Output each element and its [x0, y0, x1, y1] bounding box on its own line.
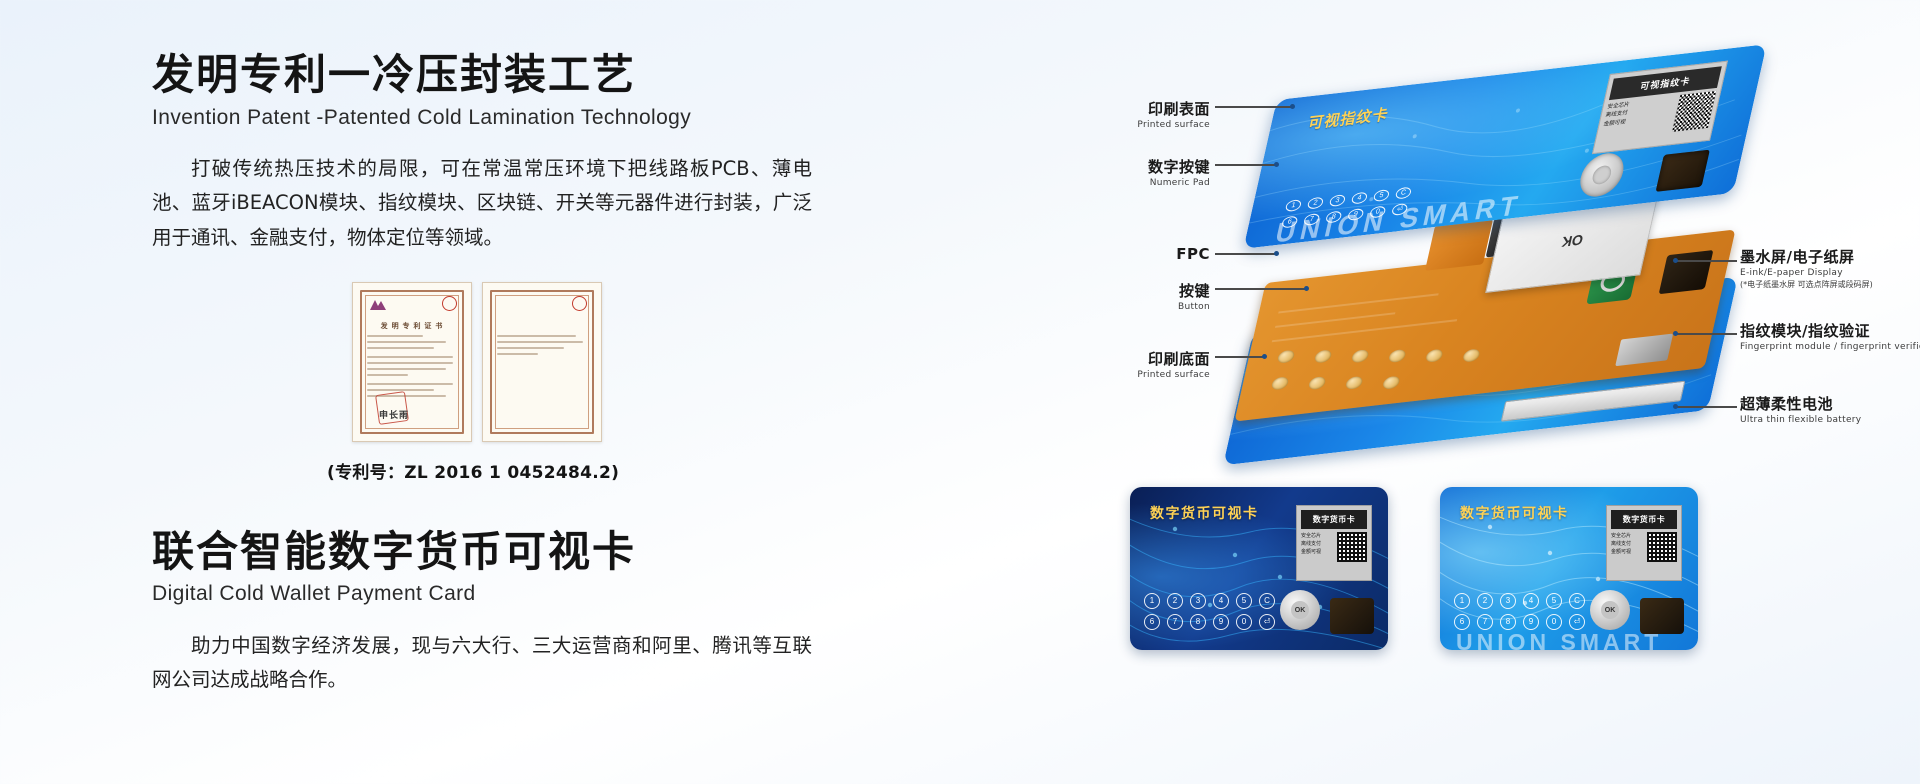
- keypad-key[interactable]: 5: [1546, 593, 1562, 609]
- keypad-row: 1 2 3 4 5 C: [1454, 593, 1585, 609]
- pcb-pad: [1308, 376, 1327, 390]
- callout-numeric-pad: 数字按键 Numeric Pad: [1040, 156, 1210, 188]
- pcb-pad: [1382, 376, 1401, 390]
- product-card-light: 数字货币可视卡 数字货币卡 安全芯片 离线支付 金额可视 1 2 3: [1440, 487, 1698, 650]
- callout-label-en: Button: [1030, 302, 1210, 312]
- pcb-pad: [1462, 348, 1481, 362]
- section2-heading-cn: 联合智能数字货币可视卡: [152, 527, 852, 577]
- callout-flexible-battery: 超薄柔性电池 Ultra thin flexible battery: [1740, 393, 1861, 425]
- keypad-key[interactable]: 3: [1500, 593, 1516, 609]
- section1-heading-en: Invention Patent -Patented Cold Laminati…: [152, 105, 852, 130]
- cert-line: [367, 341, 446, 343]
- section2-paragraph: 助力中国数字经济发展，现与六大行、三大运营商和阿里、腾讯等互联网公司达成战略合作…: [152, 629, 812, 698]
- callout-printed-surface-top: 印刷表面 Printed surface: [1040, 98, 1210, 130]
- pcb-trace: [1278, 293, 1438, 313]
- cert-line: [367, 389, 434, 391]
- keypad-row: 6 7 8 9 0 ⏎: [1144, 614, 1275, 630]
- screen-body: 安全芯片 离线支付 金额可视: [1611, 532, 1677, 576]
- leader-line-fpc: [1215, 253, 1277, 255]
- qr-code-icon: [1647, 532, 1677, 562]
- screen-main-text: 数字货币卡: [1611, 510, 1677, 529]
- keypad-key[interactable]: 1: [1454, 593, 1470, 609]
- product-card-dark: 数字货币可视卡 数字货币卡 安全芯片 离线支付 金额可视 1 2 3: [1130, 487, 1388, 650]
- keypad-key[interactable]: C: [1395, 187, 1413, 200]
- section1-paragraph: 打破传统热压技术的局限，可在常温常压环境下把线路板PCB、薄电池、蓝牙iBEAC…: [152, 152, 812, 256]
- certificate-seal-icon: [442, 296, 457, 311]
- callout-button: 按键 Button: [1030, 280, 1210, 312]
- product-card-keypad: 1 2 3 4 5 C 6 7 8 9 0 ⏎: [1454, 593, 1585, 630]
- leader-line-battery: [1675, 406, 1737, 408]
- silver-module: [1615, 334, 1673, 367]
- keypad-row: 6 7 8 9 0 ⏎: [1454, 614, 1585, 630]
- callout-printed-surface-bottom: 印刷底面 Printed surface: [1020, 348, 1210, 380]
- product-card-screen: 数字货币卡 安全芯片 离线支付 金额可视: [1606, 505, 1682, 581]
- certificate-title: 发 明 专 利 证 书: [353, 321, 471, 331]
- cert-line: [497, 341, 583, 343]
- section1-heading-cn: 发明专利一冷压封装工艺: [152, 50, 852, 100]
- certificate-image-1: 发 明 专 利 证 书: [352, 282, 472, 442]
- section-invention-patent: 发明专利一冷压封装工艺 Invention Patent -Patented C…: [152, 50, 852, 483]
- keypad-key[interactable]: 3: [1329, 194, 1347, 207]
- product-card-keypad: 1 2 3 4 5 C 6 7 8 9 0 ⏎: [1144, 593, 1275, 630]
- keypad-key[interactable]: 4: [1523, 593, 1539, 609]
- pcb-pad: [1425, 349, 1444, 363]
- pcb-trace: [1275, 312, 1395, 327]
- keypad-key[interactable]: 2: [1167, 593, 1183, 609]
- leader-line-printed-surface-bottom: [1215, 356, 1265, 358]
- product-card-brand-latin: UNION SMART: [1456, 629, 1662, 650]
- pcb-pad: [1351, 349, 1370, 363]
- patent-office-logo-icon: [367, 297, 389, 313]
- keypad-key[interactable]: 2: [1307, 197, 1325, 210]
- screen-feature-list: 安全芯片 离线支付 金额可视: [1611, 532, 1631, 576]
- leader-line-button: [1215, 288, 1307, 290]
- callout-label-en: Fingerprint module / fingerprint verific…: [1740, 342, 1920, 352]
- keypad-row: 1 2 3 4 5 C: [1144, 593, 1275, 609]
- leader-line-fingerprint: [1675, 333, 1737, 335]
- cert-line: [367, 347, 434, 349]
- cert-line: [367, 368, 446, 370]
- leader-line-numeric-pad: [1215, 164, 1277, 166]
- cert-line: [497, 353, 538, 355]
- screen-body: 安全芯片 离线支付 金额可视: [1598, 91, 1716, 148]
- patent-number: (专利号：ZL 2016 1 0452484.2): [327, 458, 852, 483]
- keypad-key[interactable]: 2: [1477, 593, 1493, 609]
- keypad-key[interactable]: 3: [1190, 593, 1206, 609]
- qr-code-icon: [1337, 532, 1367, 562]
- callout-label-note: (*电子纸墨水屏 可选点阵屏或段码屏): [1740, 279, 1873, 290]
- keypad-key[interactable]: 5: [1373, 189, 1391, 202]
- keypad-key[interactable]: 0: [1236, 614, 1252, 630]
- callout-label-cn: FPC: [1030, 245, 1210, 263]
- keypad-key[interactable]: 6: [1144, 614, 1160, 630]
- leader-line-printed-surface-top: [1215, 106, 1293, 108]
- eink-display-text: OK: [1560, 231, 1585, 250]
- callout-label-en: Printed surface: [1040, 120, 1210, 130]
- keypad-key[interactable]: 1: [1144, 593, 1160, 609]
- product-card-screen: 数字货币卡 安全芯片 离线支付 金额可视: [1296, 505, 1372, 581]
- pcb-pad: [1277, 350, 1296, 364]
- certificate-inner-frame: [495, 295, 589, 429]
- callout-label-en: Printed surface: [1020, 370, 1210, 380]
- dpad-control[interactable]: [1280, 590, 1320, 630]
- keypad-key[interactable]: 1: [1285, 199, 1303, 212]
- card-display-screen: 可视指纹卡 安全芯片 离线支付 金额可视: [1592, 61, 1728, 154]
- qr-code-icon: [1672, 91, 1716, 132]
- keypad-key[interactable]: C: [1259, 593, 1275, 609]
- cert-line: [367, 383, 453, 385]
- card-top-layer: 可视指纹卡 可视指纹卡 安全芯片 离线支付 金额可视 1: [1243, 44, 1766, 249]
- cert-line: [367, 335, 423, 337]
- certificate-signature: 申长雨: [379, 408, 409, 421]
- screen-feature-list: 安全芯片 离线支付 金额可视: [1301, 532, 1321, 576]
- certificate-seal-icon: [572, 296, 587, 311]
- callout-label-cn: 指纹模块/指纹验证: [1740, 320, 1920, 341]
- screen-feature: 离线支付: [1611, 540, 1631, 548]
- product-card-title: 数字货币可视卡: [1150, 503, 1259, 523]
- section-digital-cold-wallet: 联合智能数字货币可视卡 Digital Cold Wallet Payment …: [152, 527, 852, 698]
- callout-eink-display: 墨水屏/电子纸屏 E-ink/E-paper Display (*电子纸墨水屏 …: [1740, 246, 1873, 290]
- left-content-column: 发明专利一冷压封装工艺 Invention Patent -Patented C…: [152, 50, 852, 698]
- screen-feature: 安全芯片: [1611, 532, 1631, 540]
- callout-label-cn: 印刷表面: [1040, 98, 1210, 119]
- pcb-pad: [1314, 349, 1333, 363]
- cert-line: [367, 374, 408, 376]
- pcb-pad: [1388, 349, 1407, 363]
- keypad-key[interactable]: 7: [1477, 614, 1493, 630]
- screen-feature: 离线支付: [1301, 540, 1321, 548]
- secure-element-chip: [1659, 250, 1714, 294]
- screen-feature: 安全芯片: [1301, 532, 1321, 540]
- keypad-key[interactable]: 4: [1351, 192, 1369, 205]
- leader-line-eink: [1675, 260, 1737, 262]
- callout-label-cn: 印刷底面: [1020, 348, 1210, 369]
- keypad-key[interactable]: 9: [1523, 614, 1539, 630]
- page-root: 发明专利一冷压封装工艺 Invention Patent -Patented C…: [0, 0, 1920, 784]
- screen-feature-list: 安全芯片 离线支付 金额可视: [1598, 101, 1630, 149]
- certificate-frame: [490, 290, 594, 434]
- callout-label-en: Ultra thin flexible battery: [1740, 415, 1861, 425]
- section2-heading-en: Digital Cold Wallet Payment Card: [152, 581, 852, 606]
- callout-label-cn: 超薄柔性电池: [1740, 393, 1861, 414]
- callout-label-cn: 数字按键: [1040, 156, 1210, 177]
- cert-line: [497, 335, 576, 337]
- keypad-key[interactable]: 4: [1213, 593, 1229, 609]
- keypad-key[interactable]: 7: [1167, 614, 1183, 630]
- cert-line: [367, 356, 453, 358]
- certificate-text-lines: [497, 335, 587, 359]
- keypad-key[interactable]: C: [1569, 593, 1585, 609]
- cert-line: [367, 362, 453, 364]
- callout-fpc: FPC: [1030, 245, 1210, 263]
- fingerprint-sensor-area[interactable]: [1330, 598, 1374, 634]
- cert-line: [497, 347, 564, 349]
- keypad-key[interactable]: ⏎: [1259, 614, 1275, 630]
- callout-label-en: Numeric Pad: [1040, 178, 1210, 188]
- dpad-control[interactable]: [1590, 590, 1630, 630]
- keypad-key[interactable]: 0: [1546, 614, 1562, 630]
- patent-certificate-images: 发 明 专 利 证 书: [352, 282, 852, 442]
- keypad-key[interactable]: ⏎: [1569, 614, 1585, 630]
- screen-feature: 金额可视: [1611, 548, 1631, 556]
- keypad-key[interactable]: 8: [1500, 614, 1516, 630]
- product-card-title: 数字货币可视卡: [1460, 503, 1569, 523]
- pcb-pad: [1345, 376, 1364, 390]
- keypad-key[interactable]: 8: [1190, 614, 1206, 630]
- product-diagram-column: OK 可视指纹卡 可视指纹卡: [1090, 48, 1920, 768]
- screen-main-text: 数字货币卡: [1301, 510, 1367, 529]
- pcb-pad: [1271, 376, 1290, 390]
- keypad-key[interactable]: 6: [1454, 614, 1470, 630]
- screen-body: 安全芯片 离线支付 金额可视: [1301, 532, 1367, 576]
- certificate-image-2: [482, 282, 602, 442]
- screen-feature: 金额可视: [1301, 548, 1321, 556]
- callout-label-en: E-ink/E-paper Display: [1740, 268, 1873, 278]
- callout-fingerprint-module: 指纹模块/指纹验证 Fingerprint module / fingerpri…: [1740, 320, 1920, 352]
- product-card-gallery: 数字货币可视卡 数字货币卡 安全芯片 离线支付 金额可视 1 2 3: [1130, 487, 1698, 650]
- keypad-key[interactable]: 9: [1213, 614, 1229, 630]
- certificate-text-lines: [367, 335, 457, 401]
- callout-label-cn: 墨水屏/电子纸屏: [1740, 246, 1873, 267]
- callout-label-cn: 按键: [1030, 280, 1210, 301]
- keypad-key[interactable]: 5: [1236, 593, 1252, 609]
